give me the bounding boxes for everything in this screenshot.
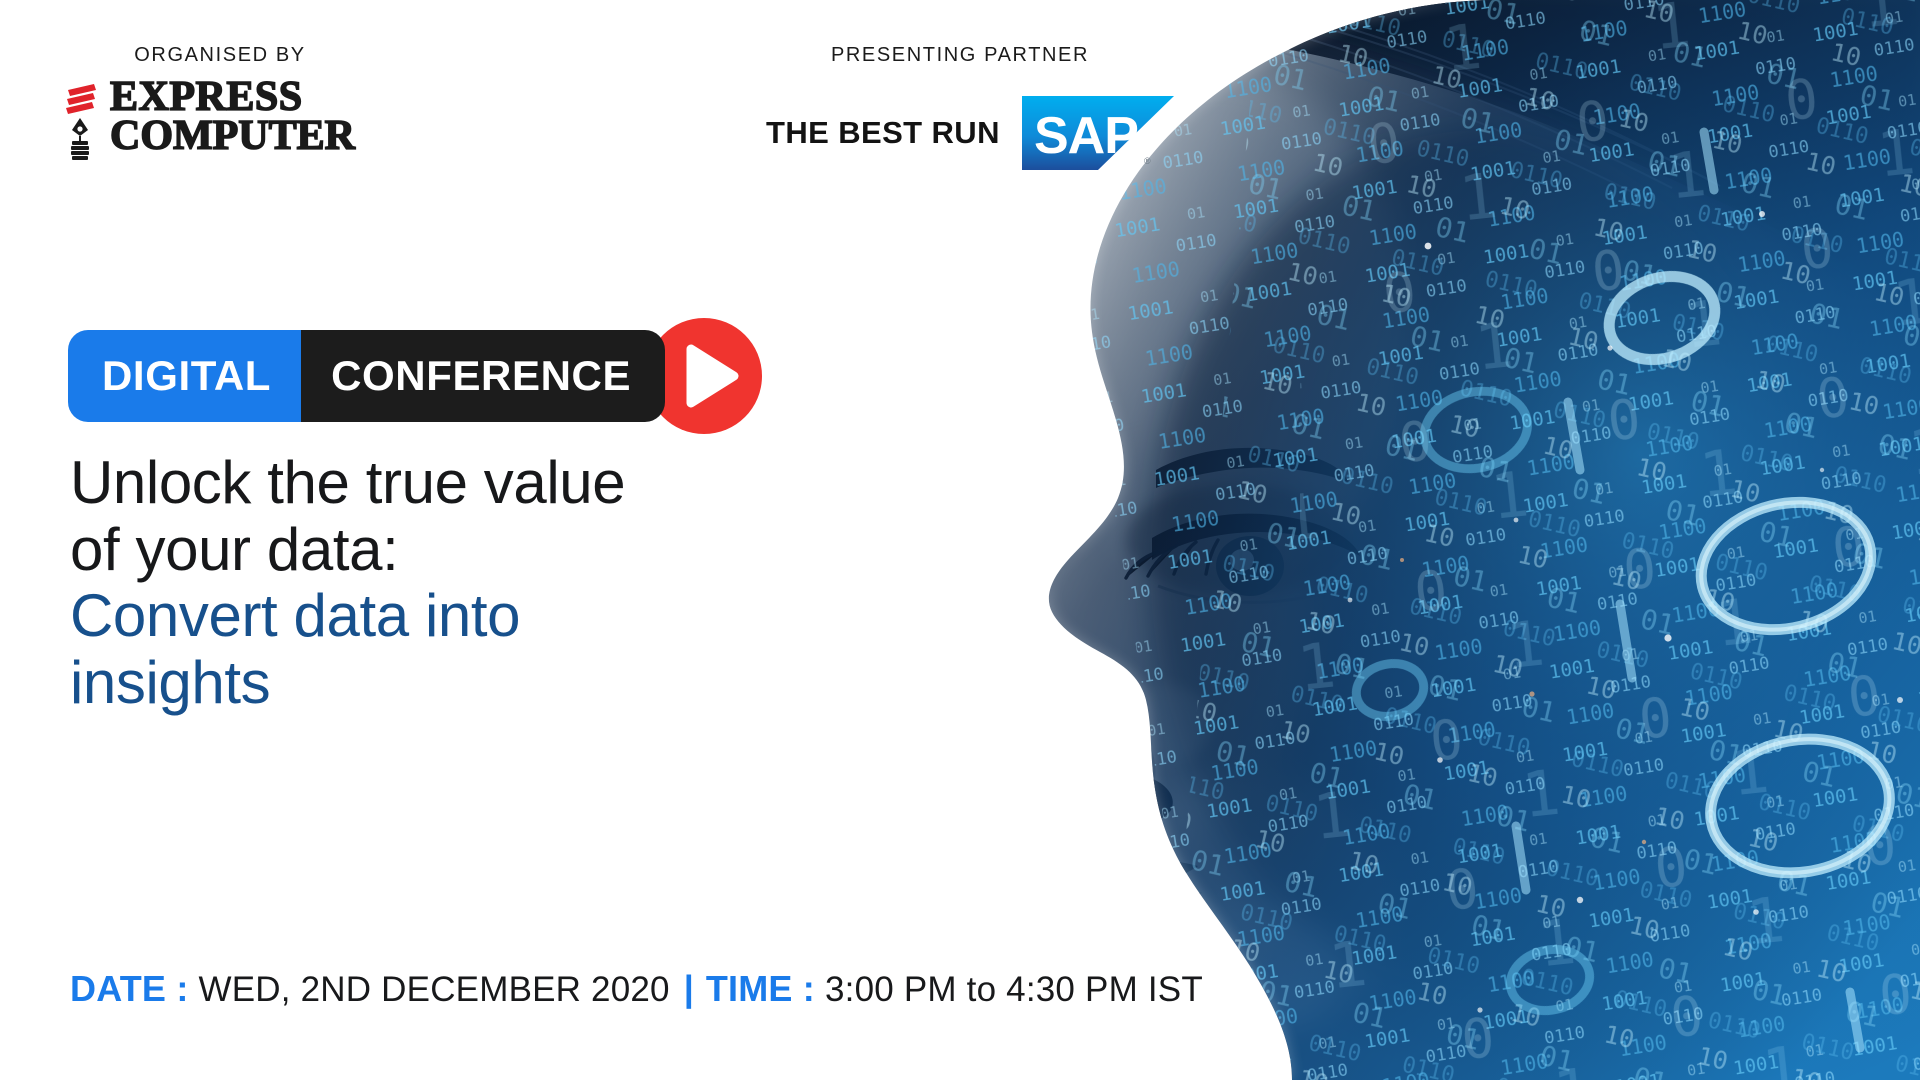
express-computer-pen-nib-icon (58, 78, 102, 162)
express-computer-wordmark: EXPRESS COMPUTER (110, 78, 355, 155)
svg-text:SAP: SAP (1034, 107, 1138, 165)
event-datetime: DATE : WED, 2ND DECEMBER 2020 | TIME : 3… (70, 968, 1203, 1010)
svg-text:®: ® (1144, 156, 1151, 166)
sap-logo: SAP ® (1022, 96, 1174, 170)
express-computer-word-express: EXPRESS (110, 78, 355, 117)
badge-segment-conference: CONFERENCE (301, 330, 665, 422)
headline-line-3: Convert data into (70, 583, 920, 650)
headline-line-2: of your data: (70, 517, 920, 584)
sap-logo-icon: SAP ® (1022, 96, 1174, 170)
conference-promo-poster: 1001 0110 1100 01 10 01 0110 0 1 (0, 0, 1920, 1080)
time-label: TIME : (706, 968, 815, 1010)
headline-line-1: Unlock the true value (70, 450, 920, 517)
digital-conference-badge-row: DIGITAL CONFERENCE (68, 330, 767, 422)
badge-segment-digital: DIGITAL (68, 330, 301, 422)
date-value: WED, 2ND DECEMBER 2020 (199, 970, 670, 1010)
sap-lockup: THE BEST RUN SAP ® (766, 96, 1174, 170)
presenting-partner-kicker: PRESENTING PARTNER (700, 44, 1220, 67)
datetime-separator: | (684, 968, 694, 1010)
express-computer-word-computer: COMPUTER (110, 117, 355, 156)
date-label: DATE : (70, 968, 189, 1010)
presenting-partner-block: PRESENTING PARTNER (700, 44, 1220, 67)
time-value: 3:00 PM to 4:30 PM IST (825, 970, 1203, 1010)
express-computer-logo: EXPRESS COMPUTER (58, 78, 355, 162)
digital-conference-badge: DIGITAL CONFERENCE (68, 330, 665, 422)
sap-tagline: THE BEST RUN (766, 115, 1000, 151)
organised-by-block: ORGANISED BY (0, 44, 440, 67)
headline-line-4: insights (70, 650, 920, 717)
organised-by-kicker: ORGANISED BY (0, 44, 440, 67)
page-title: Unlock the true value of your data: Conv… (70, 450, 920, 716)
